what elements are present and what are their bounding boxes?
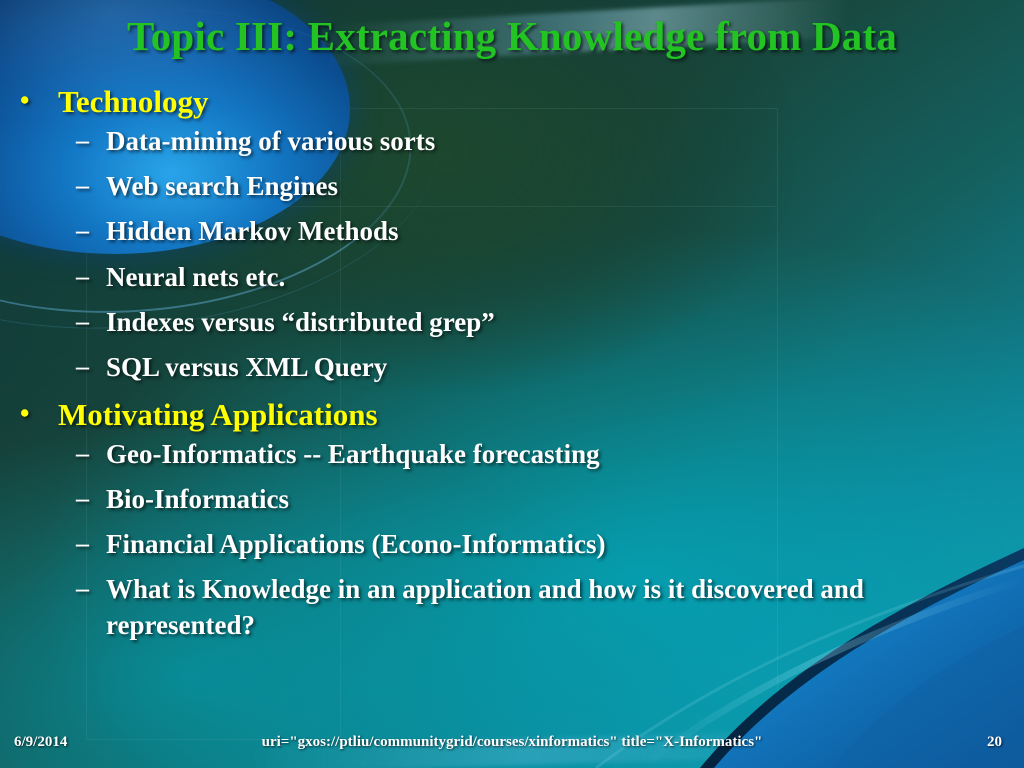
bullet-level2-label: Financial Applications (Econo-Informatic… bbox=[106, 527, 606, 562]
bullet-level2-item: – Neural nets etc. bbox=[14, 260, 1014, 295]
slide-body: • Technology – Data-mining of various so… bbox=[14, 82, 1014, 653]
bullet-level1-technology: • Technology bbox=[14, 82, 1014, 122]
bullet-level2-item: – What is Knowledge in an application an… bbox=[14, 572, 1014, 642]
bullet-level2-item: – Bio-Informatics bbox=[14, 482, 1014, 517]
bullet-level2-item: – Web search Engines bbox=[14, 169, 1014, 204]
bullet-level2-item: – Financial Applications (Econo-Informat… bbox=[14, 527, 1014, 562]
dash-icon: – bbox=[14, 482, 106, 516]
slide-title: Topic III: Extracting Knowledge from Dat… bbox=[0, 12, 1024, 60]
bullet-level2-label: Geo-Informatics -- Earthquake forecastin… bbox=[106, 437, 600, 472]
bullet-level2-label: Bio-Informatics bbox=[106, 482, 289, 517]
dash-icon: – bbox=[14, 572, 106, 606]
dash-icon: – bbox=[14, 169, 106, 203]
dash-icon: – bbox=[14, 437, 106, 471]
footer-uri: uri="gxos://ptliu/communitygrid/courses/… bbox=[0, 734, 1024, 751]
slide-footer: 6/9/2014 uri="gxos://ptliu/communitygrid… bbox=[0, 730, 1024, 760]
dash-icon: – bbox=[14, 305, 106, 339]
dash-icon: – bbox=[14, 350, 106, 384]
bullet-level1-label: Motivating Applications bbox=[58, 395, 378, 435]
presentation-slide: Topic III: Extracting Knowledge from Dat… bbox=[0, 0, 1024, 768]
bullet-level2-item: – Data-mining of various sorts bbox=[14, 124, 1014, 159]
bullet-level2-label: Data-mining of various sorts bbox=[106, 124, 435, 159]
bullet-level1-motivating-applications: • Motivating Applications bbox=[14, 395, 1014, 435]
footer-slide-number: 20 bbox=[987, 734, 1002, 751]
dash-icon: – bbox=[14, 527, 106, 561]
dash-icon: – bbox=[14, 260, 106, 294]
bullet-level2-label: Web search Engines bbox=[106, 169, 338, 204]
bullet-level2-label: Hidden Markov Methods bbox=[106, 214, 399, 249]
bullet-dot-icon: • bbox=[14, 82, 58, 119]
dash-icon: – bbox=[14, 214, 106, 248]
bullet-level2-item: – Geo-Informatics -- Earthquake forecast… bbox=[14, 437, 1014, 472]
bullet-level2-label: Neural nets etc. bbox=[106, 260, 285, 295]
bullet-level1-label: Technology bbox=[58, 82, 208, 122]
bullet-level2-item: – Hidden Markov Methods bbox=[14, 214, 1014, 249]
bullet-level2-label: Indexes versus “distributed grep” bbox=[106, 305, 495, 340]
bullet-level2-label: What is Knowledge in an application and … bbox=[106, 572, 1011, 642]
bullet-level2-item: – SQL versus XML Query bbox=[14, 350, 1014, 385]
bullet-level2-label: SQL versus XML Query bbox=[106, 350, 387, 385]
dash-icon: – bbox=[14, 124, 106, 158]
bullet-dot-icon: • bbox=[14, 395, 58, 432]
bullet-level2-item: – Indexes versus “distributed grep” bbox=[14, 305, 1014, 340]
